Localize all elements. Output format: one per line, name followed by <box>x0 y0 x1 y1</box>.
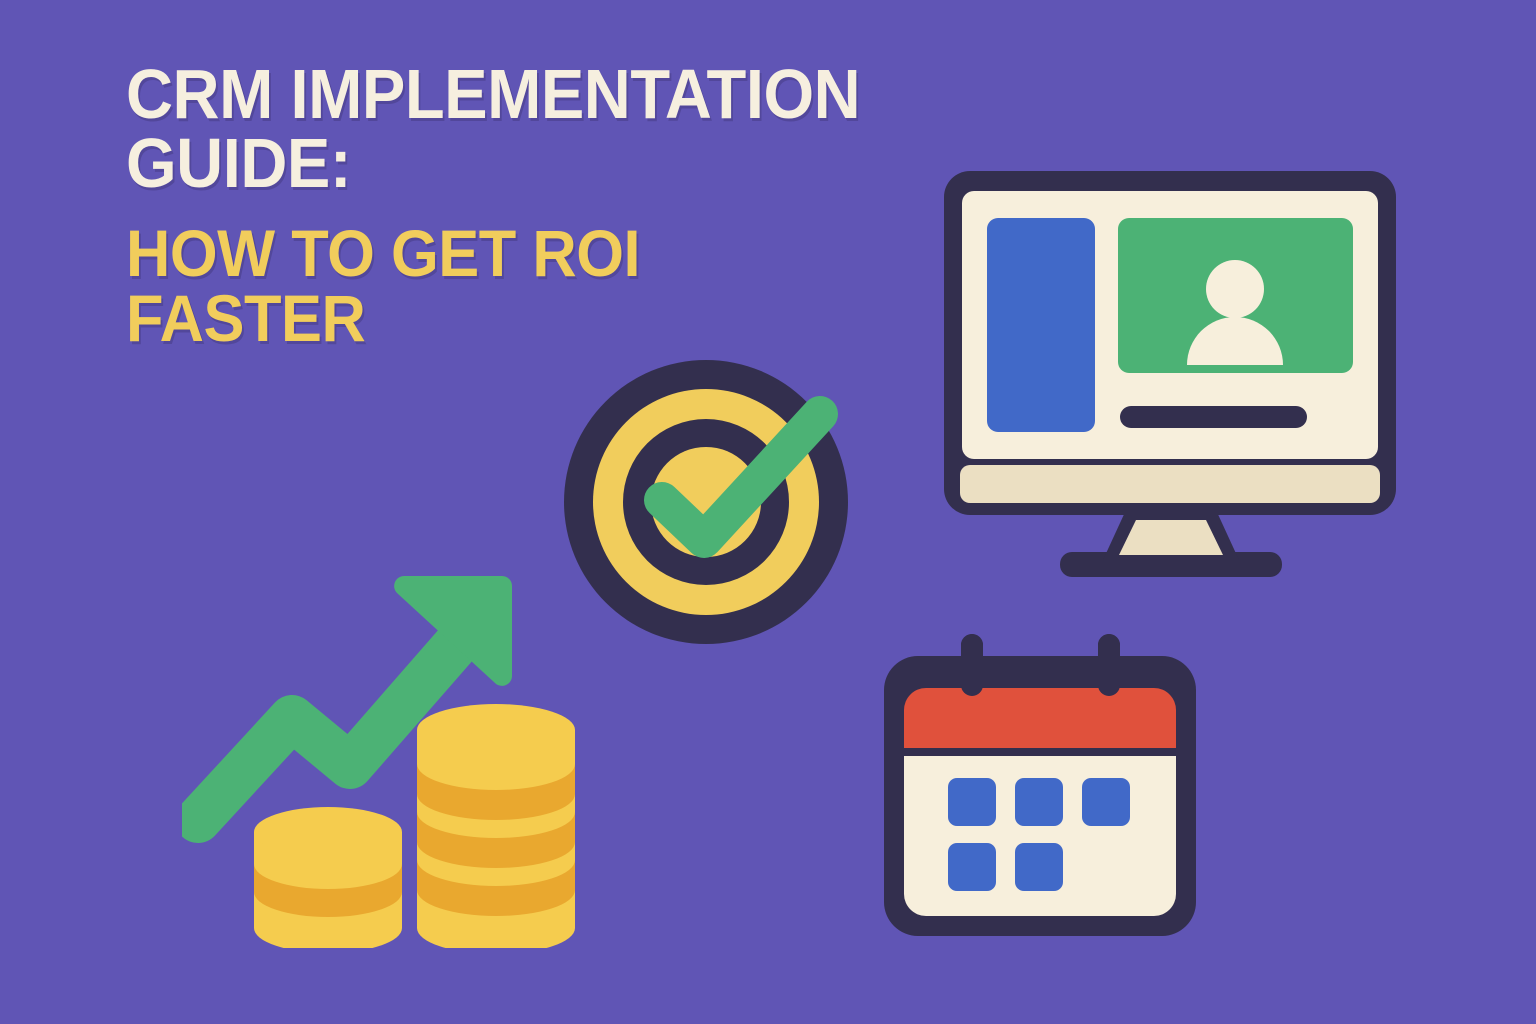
poster-canvas: CRM IMPLEMENTATION GUIDE: HOW TO GET ROI… <box>0 0 1536 1024</box>
sidebar-panel-blue[interactable] <box>987 218 1095 432</box>
title-line-1: CRM IMPLEMENTATION <box>126 60 982 129</box>
monitor-chin <box>960 465 1380 503</box>
monitor-text-bar <box>1120 406 1307 428</box>
avatar-head-icon <box>1206 260 1264 318</box>
coin-top-face <box>254 807 402 857</box>
coin-stack-short <box>254 807 402 948</box>
coin-stack-tall <box>417 704 575 948</box>
growth-icon <box>182 558 582 948</box>
target-icon <box>558 352 858 652</box>
calendar-date-cell[interactable] <box>1015 843 1063 891</box>
calendar-date-cell[interactable] <box>948 778 996 826</box>
monitor-stand-inner <box>1119 520 1223 555</box>
calendar-date-cell[interactable] <box>948 843 996 891</box>
calendar-date-cell[interactable] <box>1082 778 1130 826</box>
monitor-icon <box>930 165 1410 585</box>
calendar-icon <box>866 628 1216 948</box>
page-title: CRM IMPLEMENTATION GUIDE: HOW TO GET ROI… <box>126 60 1046 351</box>
calendar-ring-left-overlay-icon <box>961 634 983 696</box>
calendar-ring-right-overlay-icon <box>1098 634 1120 696</box>
calendar-header-red <box>904 688 1176 748</box>
title-line-3: HOW TO GET ROI <box>126 221 982 286</box>
coin-top-face <box>417 704 575 756</box>
title-line-2: GUIDE: <box>126 129 982 198</box>
title-line-4: FASTER <box>126 286 982 351</box>
calendar-date-cell[interactable] <box>1015 778 1063 826</box>
